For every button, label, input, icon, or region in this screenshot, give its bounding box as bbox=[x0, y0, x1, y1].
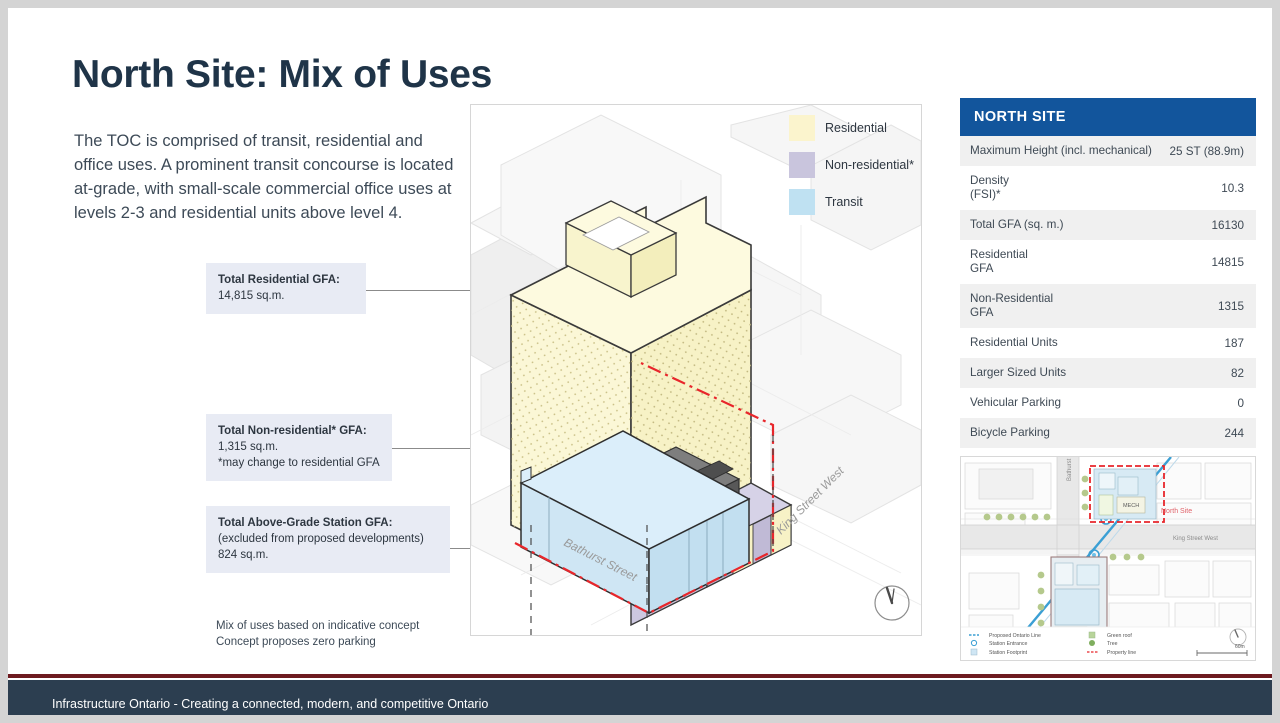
callout-line: 824 sq.m. bbox=[218, 547, 438, 563]
callout-subnote: (excluded from proposed developments) bbox=[218, 531, 438, 547]
footer-text: Infrastructure Ontario - Creating a conn… bbox=[52, 697, 488, 711]
note-line-2: Concept proposes zero parking bbox=[216, 635, 419, 651]
table-header: NORTH SITE bbox=[960, 98, 1256, 136]
plan-legend-label-property-line: Property line bbox=[1107, 650, 1136, 656]
street-label-king-plan: King Street West bbox=[1173, 536, 1218, 542]
site-plan-svg: MECH MECH bbox=[961, 457, 1255, 660]
row-label-line1: Density bbox=[970, 174, 1009, 187]
table-row: Residential Units 187 bbox=[960, 328, 1256, 358]
slide-canvas: North Site: Mix of Uses The TOC is compr… bbox=[8, 8, 1272, 715]
site-plan-map: MECH MECH bbox=[960, 456, 1256, 661]
diagram-notes: Mix of uses based on indicative concept … bbox=[216, 619, 419, 650]
row-label: Residential Units bbox=[970, 336, 1058, 350]
row-label-line2: GFA bbox=[970, 262, 993, 275]
plan-legend-label-station-entrance: Station Entrance bbox=[989, 641, 1027, 647]
legend-item-residential: Residential bbox=[789, 115, 922, 141]
row-value: 25 ST (88.9m) bbox=[1162, 145, 1245, 158]
table-row: Vehicular Parking 0 bbox=[960, 388, 1256, 418]
table-row: Maximum Height (incl. mechanical) 25 ST … bbox=[960, 136, 1256, 166]
legend-label-transit: Transit bbox=[825, 195, 863, 209]
row-label: Larger Sized Units bbox=[970, 366, 1066, 380]
row-label: Density (FSI)* bbox=[970, 174, 1009, 202]
north-arrow-icon bbox=[875, 586, 909, 620]
row-label: Maximum Height (incl. mechanical) bbox=[970, 144, 1152, 158]
callout-line: 14,815 sq.m. bbox=[218, 288, 354, 304]
row-label: Non-Residential GFA bbox=[970, 292, 1053, 320]
table-row: Non-Residential GFA 1315 bbox=[960, 284, 1256, 328]
legend-swatch-residential bbox=[789, 115, 815, 141]
row-label: Residential GFA bbox=[970, 248, 1028, 276]
isometric-massing-diagram: Bathurst Street King Street West Residen… bbox=[470, 104, 922, 636]
callout-title: Total Residential GFA: bbox=[218, 272, 354, 288]
intro-paragraph: The TOC is comprised of transit, residen… bbox=[74, 129, 454, 225]
row-value: 16130 bbox=[1203, 219, 1244, 232]
callout-line: 1,315 sq.m. bbox=[218, 439, 380, 455]
plan-scale-label: 60m bbox=[1235, 644, 1245, 650]
legend-item-non-residential: Non-residential* bbox=[789, 152, 922, 178]
table-row: Density (FSI)* 10.3 bbox=[960, 166, 1256, 210]
legend-label-non-residential: Non-residential* bbox=[825, 158, 914, 172]
table-row: Total GFA (sq. m.) 16130 bbox=[960, 210, 1256, 240]
row-label-line1: Non-Residential bbox=[970, 292, 1053, 305]
legend-swatch-transit bbox=[789, 189, 815, 215]
page-title: North Site: Mix of Uses bbox=[72, 53, 492, 97]
note-line-1: Mix of uses based on indicative concept bbox=[216, 619, 419, 635]
row-label: Bicycle Parking bbox=[970, 426, 1050, 440]
legend-item-transit: Transit bbox=[789, 189, 922, 215]
row-label: Vehicular Parking bbox=[970, 396, 1061, 410]
row-label: Total GFA (sq. m.) bbox=[970, 218, 1064, 232]
north-site-metrics-table: NORTH SITE Maximum Height (incl. mechani… bbox=[960, 98, 1256, 448]
street-label-bathurst-plan: Bathurst Street bbox=[1067, 457, 1073, 481]
callout-title: Total Above-Grade Station GFA: bbox=[218, 515, 438, 531]
site-label-north: North Site bbox=[1161, 508, 1192, 515]
row-value: 187 bbox=[1216, 337, 1244, 350]
row-value: 14815 bbox=[1203, 256, 1244, 269]
callout-footnote: *may change to residential GFA bbox=[218, 455, 380, 471]
row-value: 0 bbox=[1229, 397, 1244, 410]
plan-legend-label-tree: Tree bbox=[1107, 641, 1118, 647]
row-value: 82 bbox=[1223, 367, 1244, 380]
mech-label-north: MECH bbox=[1123, 503, 1139, 509]
row-label-line1: Residential bbox=[970, 248, 1028, 261]
plan-legend-label-ontario-line: Proposed Ontario Line bbox=[989, 633, 1041, 639]
table-row: Bicycle Parking 244 bbox=[960, 418, 1256, 448]
row-label-line2: GFA bbox=[970, 306, 993, 319]
plan-legend-label-station-footprint: Station Footprint bbox=[989, 650, 1028, 656]
row-value: 244 bbox=[1216, 427, 1244, 440]
callout-total-non-residential-gfa: Total Non-residential* GFA: 1,315 sq.m. … bbox=[206, 414, 392, 481]
legend-swatch-non-residential bbox=[789, 152, 815, 178]
north-site-footprint: MECH bbox=[1090, 466, 1164, 522]
massing-legend: Residential Non-residential* Transit bbox=[789, 115, 922, 226]
plan-legend-label-green-roof: Green roof bbox=[1107, 633, 1132, 639]
footer-accent-rule bbox=[8, 674, 1272, 678]
row-label-line2: (FSI)* bbox=[970, 188, 1001, 201]
table-row: Larger Sized Units 82 bbox=[960, 358, 1256, 388]
row-value: 10.3 bbox=[1213, 182, 1244, 195]
callout-title: Total Non-residential* GFA: bbox=[218, 423, 380, 439]
legend-label-residential: Residential bbox=[825, 121, 887, 135]
callout-total-residential-gfa: Total Residential GFA: 14,815 sq.m. bbox=[206, 263, 366, 314]
table-row: Residential GFA 14815 bbox=[960, 240, 1256, 284]
callout-total-station-gfa: Total Above-Grade Station GFA: (excluded… bbox=[206, 506, 450, 573]
row-value: 1315 bbox=[1210, 300, 1244, 313]
